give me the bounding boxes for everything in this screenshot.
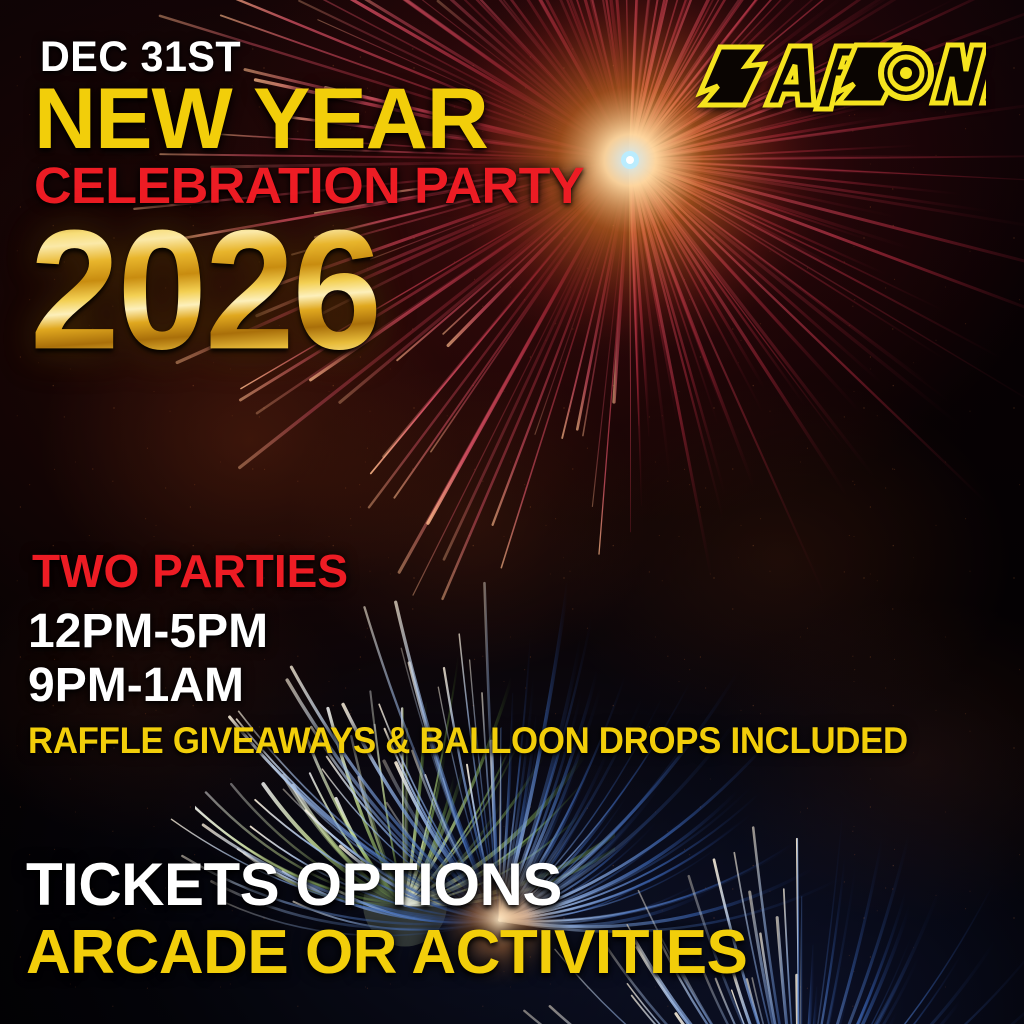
year-display: 2026 [30, 205, 380, 375]
tickets-subheading: ARCADE OR ACTIVITIES [26, 922, 747, 984]
party-time-early: 12PM-5PM [28, 608, 268, 656]
tickets-heading: TICKETS OPTIONS [26, 855, 562, 915]
party-time-late: 9PM-1AM [28, 662, 244, 710]
logo-letter-z1 [700, 47, 764, 105]
logo-bullseye-o-icon [881, 48, 931, 98]
extras-included-label: RAFFLE GIVEAWAYS & BALLOON DROPS INCLUDE… [28, 722, 908, 759]
parties-heading: TWO PARTIES [32, 548, 348, 594]
page-title: NEW YEAR [34, 76, 488, 162]
logo-letter-a [766, 46, 814, 105]
zap-zone-wordmark [700, 45, 986, 109]
new-year-party-poster: DEC 31ST NEW YEAR CELEBRATION PARTY 2026… [0, 0, 1024, 1024]
logo-letter-n [932, 45, 986, 103]
zap-zone-logo [686, 33, 986, 113]
